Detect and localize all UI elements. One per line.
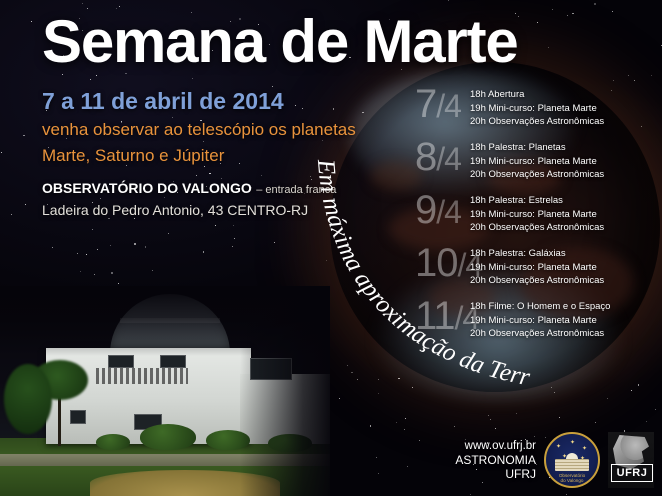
- schedule-day-items: 18h Palestra: Planetas19h Mini-curso: Pl…: [470, 141, 604, 182]
- schedule-day-items: 18h Palestra: Galáxias19h Mini-curso: Pl…: [470, 247, 604, 288]
- day-digits: 10: [415, 241, 458, 285]
- venue-address: Ladeira do Pedro Antonio, 43 CENTRO-RJ: [42, 202, 308, 218]
- schedule-item: 19h Mini-curso: Planeta Marte: [470, 155, 604, 169]
- day-digits: 8: [415, 135, 436, 179]
- schedule-day: 11/418h Filme: O Homem e o Espaço19h Min…: [415, 300, 662, 353]
- schedule-item: 20h Observações Astronômicas: [470, 168, 604, 182]
- schedule-day-items: 18h Abertura19h Mini-curso: Planeta Mart…: [470, 88, 604, 129]
- footer-bar: www.ov.ufrj.br ASTRONOMIA UFRJ ✦ ✦ ✦ ✦ ✦…: [455, 432, 654, 488]
- schedule-day: 9/418h Palestra: Estrelas19h Mini-curso:…: [415, 194, 662, 247]
- poster-dateline: 7 a 11 de abril de 2014: [42, 88, 284, 115]
- footer-text-block: www.ov.ufrj.br ASTRONOMIA UFRJ: [455, 439, 536, 481]
- schedule-day: 7/418h Abertura19h Mini-curso: Planeta M…: [415, 88, 662, 141]
- observatorio-valongo-logo: ✦ ✦ ✦ ✦ ✦ Observatório do Valongo: [544, 432, 600, 488]
- day-digits: 11: [415, 294, 455, 338]
- schedule-day: 8/418h Palestra: Planetas19h Mini-curso:…: [415, 141, 662, 194]
- schedule-item: 18h Palestra: Planetas: [470, 141, 604, 155]
- org-line-1: ASTRONOMIA: [455, 453, 536, 467]
- venue-line: OBSERVATÓRIO DO VALONGO – entrada franca: [42, 180, 336, 198]
- venue-name: OBSERVATÓRIO DO VALONGO: [42, 180, 252, 196]
- schedule-day-number: 7/4: [415, 84, 461, 124]
- schedule-day: 10/418h Palestra: Galáxias19h Mini-curso…: [415, 247, 662, 300]
- schedule-item: 20h Observações Astronômicas: [470, 327, 610, 341]
- website-url[interactable]: www.ov.ufrj.br: [455, 439, 536, 453]
- venue-free-entry: – entrada franca: [256, 184, 336, 196]
- schedule-item: 19h Mini-curso: Planeta Marte: [470, 102, 604, 116]
- schedule-item: 20h Observações Astronômicas: [470, 274, 604, 288]
- schedule-item: 20h Observações Astronômicas: [470, 115, 604, 129]
- schedule-item: 18h Palestra: Galáxias: [470, 247, 604, 261]
- day-digits: 9: [415, 188, 436, 232]
- schedule-item: 19h Mini-curso: Planeta Marte: [470, 261, 604, 275]
- month-digits: /4: [436, 141, 461, 177]
- poster-title: Semana de Marte: [42, 12, 518, 72]
- schedule-day-items: 18h Filme: O Homem e o Espaço19h Mini-cu…: [470, 300, 610, 341]
- schedule-item: 18h Palestra: Estrelas: [470, 194, 604, 208]
- schedule-list: 7/418h Abertura19h Mini-curso: Planeta M…: [415, 88, 662, 353]
- schedule-item: 19h Mini-curso: Planeta Marte: [470, 208, 604, 222]
- org-line-2: UFRJ: [455, 467, 536, 481]
- schedule-item: 18h Abertura: [470, 88, 604, 102]
- schedule-item: 19h Mini-curso: Planeta Marte: [470, 314, 610, 328]
- poster-subtitle-line1: venha observar ao telescópio os planetas: [42, 120, 356, 140]
- schedule-day-items: 18h Palestra: Estrelas19h Mini-curso: Pl…: [470, 194, 604, 235]
- schedule-item: 20h Observações Astronômicas: [470, 221, 604, 235]
- schedule-day-number: 8/4: [415, 137, 461, 177]
- poster-canvas: Semana de Marte 7 a 11 de abril de 2014 …: [0, 0, 662, 496]
- observatory-photo: [0, 286, 330, 496]
- month-digits: /4: [436, 88, 461, 124]
- ufrj-shield-logo: UFRJ: [608, 432, 654, 488]
- month-digits: /4: [436, 194, 461, 230]
- poster-subtitle-line2: Marte, Saturno e Júpiter: [42, 146, 224, 166]
- logo-caption: Observatório do Valongo: [546, 473, 598, 483]
- ufrj-label: UFRJ: [617, 467, 648, 479]
- day-digits: 7: [415, 82, 436, 126]
- schedule-item: 18h Filme: O Homem e o Espaço: [470, 300, 610, 314]
- schedule-day-number: 9/4: [415, 190, 461, 230]
